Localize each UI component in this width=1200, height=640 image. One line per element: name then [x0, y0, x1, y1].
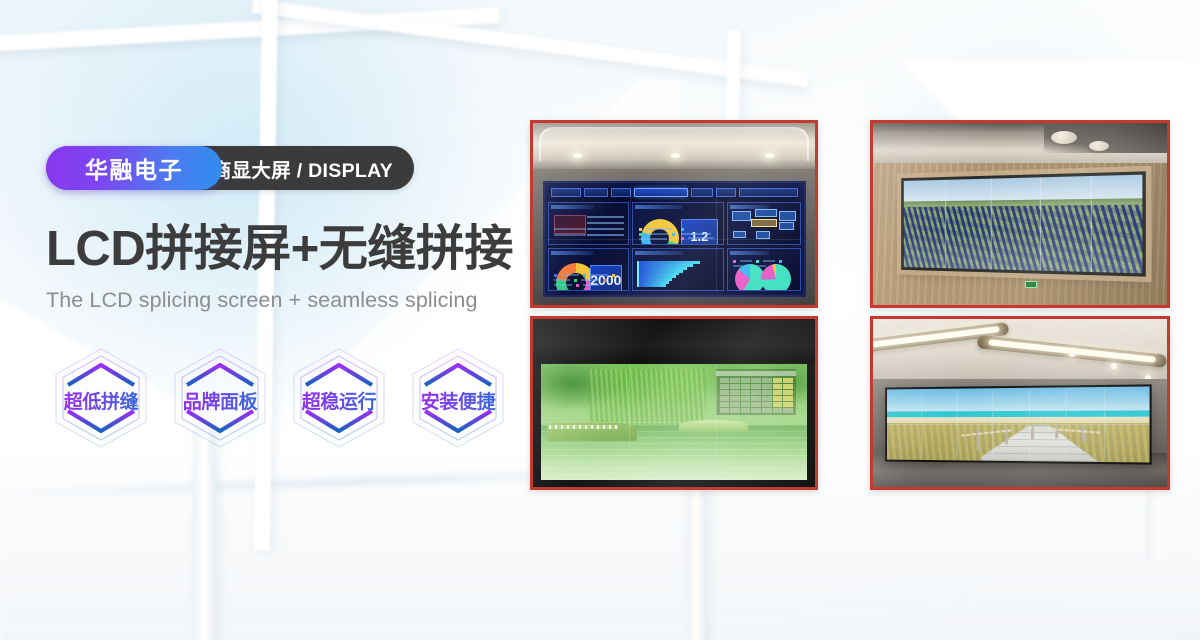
calendar-overlay — [716, 369, 796, 415]
feature-badge-label: 安装便捷 — [403, 387, 513, 414]
company-name: 华融电子 — [85, 151, 183, 185]
feature-badge-2: 品牌面板 — [165, 343, 275, 453]
solar-wall-screen — [901, 171, 1146, 276]
feature-badge-label: 超稳运行 — [284, 387, 394, 414]
product-photo-grid: 1.2 万座 — [530, 120, 1170, 490]
feature-badge-3: 超稳运行 — [284, 343, 394, 453]
feature-badge-4: 安装便捷 — [403, 343, 513, 453]
headline: LCD拼接屏+无缝拼接 — [46, 224, 526, 275]
column-left — [193, 430, 215, 640]
lake-wall-screen — [541, 364, 806, 480]
photo-solar-farm-video-wall[interactable] — [870, 120, 1170, 308]
subheadline: The LCD splicing screen + seamless splic… — [46, 288, 526, 313]
company-pill: 华融电子 — [46, 146, 222, 190]
promo-banner: 商显大屏 / DISPLAY 华融电子 LCD拼接屏+无缝拼接 The LCD … — [0, 0, 1200, 640]
feature-badge-label: 品牌面板 — [165, 387, 275, 414]
text-column: 商显大屏 / DISPLAY 华融电子 LCD拼接屏+无缝拼接 The LCD … — [46, 146, 526, 453]
feature-badge-label: 超低拼缝 — [46, 387, 156, 414]
dashboard-screen: 1.2 万座 — [543, 181, 806, 297]
photo-willow-lake-video-wall[interactable] — [530, 316, 818, 490]
beach-wall-screen — [885, 385, 1151, 466]
category-label: 商显大屏 / DISPLAY — [212, 154, 393, 183]
feature-badge-1: 超低拼缝 — [46, 343, 156, 453]
photo-beach-boardwalk-video-wall[interactable] — [870, 316, 1170, 490]
feature-badge-row: 超低拼缝 品牌面板 超稳运行 — [46, 343, 526, 453]
photo-data-dashboard-video-wall[interactable]: 1.2 万座 — [530, 120, 818, 308]
brand-badge: 商显大屏 / DISPLAY 华融电子 — [46, 146, 414, 194]
